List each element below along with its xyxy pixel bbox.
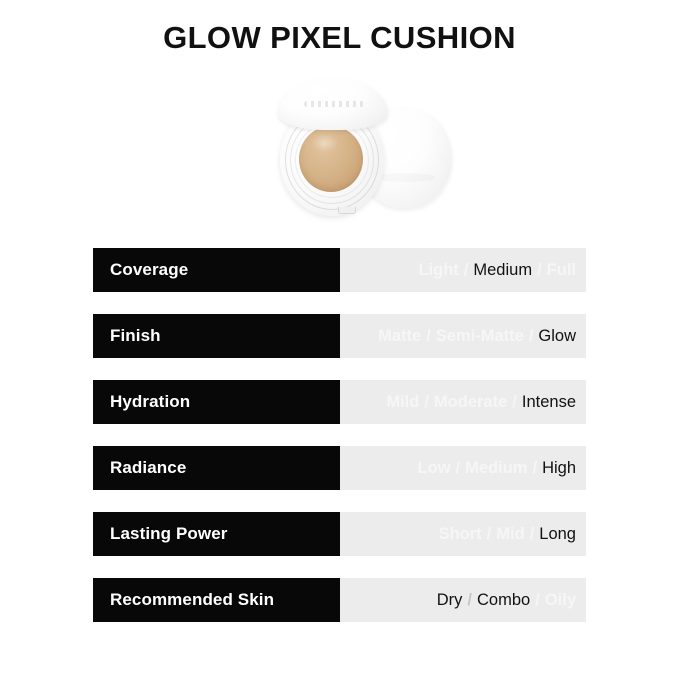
- spec-row-options: Low/Medium/High: [340, 446, 586, 490]
- option-selected[interactable]: Glow: [538, 327, 576, 346]
- spec-row-options: Short/Mid/Long: [340, 512, 586, 556]
- option-separator: /: [512, 393, 517, 412]
- option-unselected[interactable]: Low: [418, 459, 451, 478]
- option-selected[interactable]: Intense: [522, 393, 576, 412]
- option-separator: /: [537, 261, 542, 280]
- option-separator: /: [467, 591, 472, 610]
- spec-row-label: Hydration: [93, 380, 340, 424]
- option-selected[interactable]: Medium: [473, 261, 532, 280]
- product-image: [258, 76, 458, 221]
- option-separator: /: [424, 393, 429, 412]
- spec-row: CoverageLight/Medium/Full: [93, 248, 586, 292]
- spec-row: HydrationMild/Moderate/Intense: [93, 380, 586, 424]
- product-spec-page: GLOW PIXEL CUSHION CoverageLight/Medium/…: [0, 0, 679, 679]
- spec-row-label: Radiance: [93, 446, 340, 490]
- option-separator: /: [529, 327, 534, 346]
- option-selected[interactable]: Dry: [437, 591, 463, 610]
- option-separator: /: [530, 525, 535, 544]
- cushion-highlight: [311, 134, 339, 152]
- spec-row-label: Recommended Skin: [93, 578, 340, 622]
- option-separator: /: [535, 591, 540, 610]
- option-separator: /: [487, 525, 492, 544]
- option-selected[interactable]: Long: [539, 525, 576, 544]
- option-unselected[interactable]: Oily: [545, 591, 576, 610]
- spec-row-label: Coverage: [93, 248, 340, 292]
- option-selected[interactable]: Combo: [477, 591, 530, 610]
- cushion-pad: [299, 126, 363, 192]
- spec-row-label: Lasting Power: [93, 512, 340, 556]
- spec-table: CoverageLight/Medium/FullFinishMatte/Sem…: [93, 248, 586, 622]
- option-unselected[interactable]: Medium: [465, 459, 527, 478]
- option-unselected[interactable]: Mid: [496, 525, 524, 544]
- spec-row-options: Light/Medium/Full: [340, 248, 586, 292]
- option-separator: /: [426, 327, 431, 346]
- compact-lid: [278, 78, 388, 130]
- case-notch: [338, 207, 356, 214]
- page-title: GLOW PIXEL CUSHION: [0, 18, 679, 58]
- spec-row-options: Dry/Combo/Oily: [340, 578, 586, 622]
- spec-row-options: Mild/Moderate/Intense: [340, 380, 586, 424]
- option-separator: /: [456, 459, 461, 478]
- option-unselected[interactable]: Light: [418, 261, 458, 280]
- option-unselected[interactable]: Moderate: [434, 393, 507, 412]
- puff-seam: [374, 173, 436, 182]
- spec-row: FinishMatte/Semi-Matte/Glow: [93, 314, 586, 358]
- option-unselected[interactable]: Semi-Matte: [436, 327, 524, 346]
- spec-row-label: Finish: [93, 314, 340, 358]
- option-separator: /: [464, 261, 469, 280]
- option-separator: /: [532, 459, 537, 478]
- option-unselected[interactable]: Mild: [386, 393, 419, 412]
- spec-row: Lasting PowerShort/Mid/Long: [93, 512, 586, 556]
- spec-row-options: Matte/Semi-Matte/Glow: [340, 314, 586, 358]
- option-selected[interactable]: High: [542, 459, 576, 478]
- option-unselected[interactable]: Matte: [378, 327, 421, 346]
- option-unselected[interactable]: Full: [547, 261, 576, 280]
- spec-row: RadianceLow/Medium/High: [93, 446, 586, 490]
- spec-row: Recommended SkinDry/Combo/Oily: [93, 578, 586, 622]
- option-unselected[interactable]: Short: [439, 525, 482, 544]
- lid-embossed-logo: [304, 101, 364, 107]
